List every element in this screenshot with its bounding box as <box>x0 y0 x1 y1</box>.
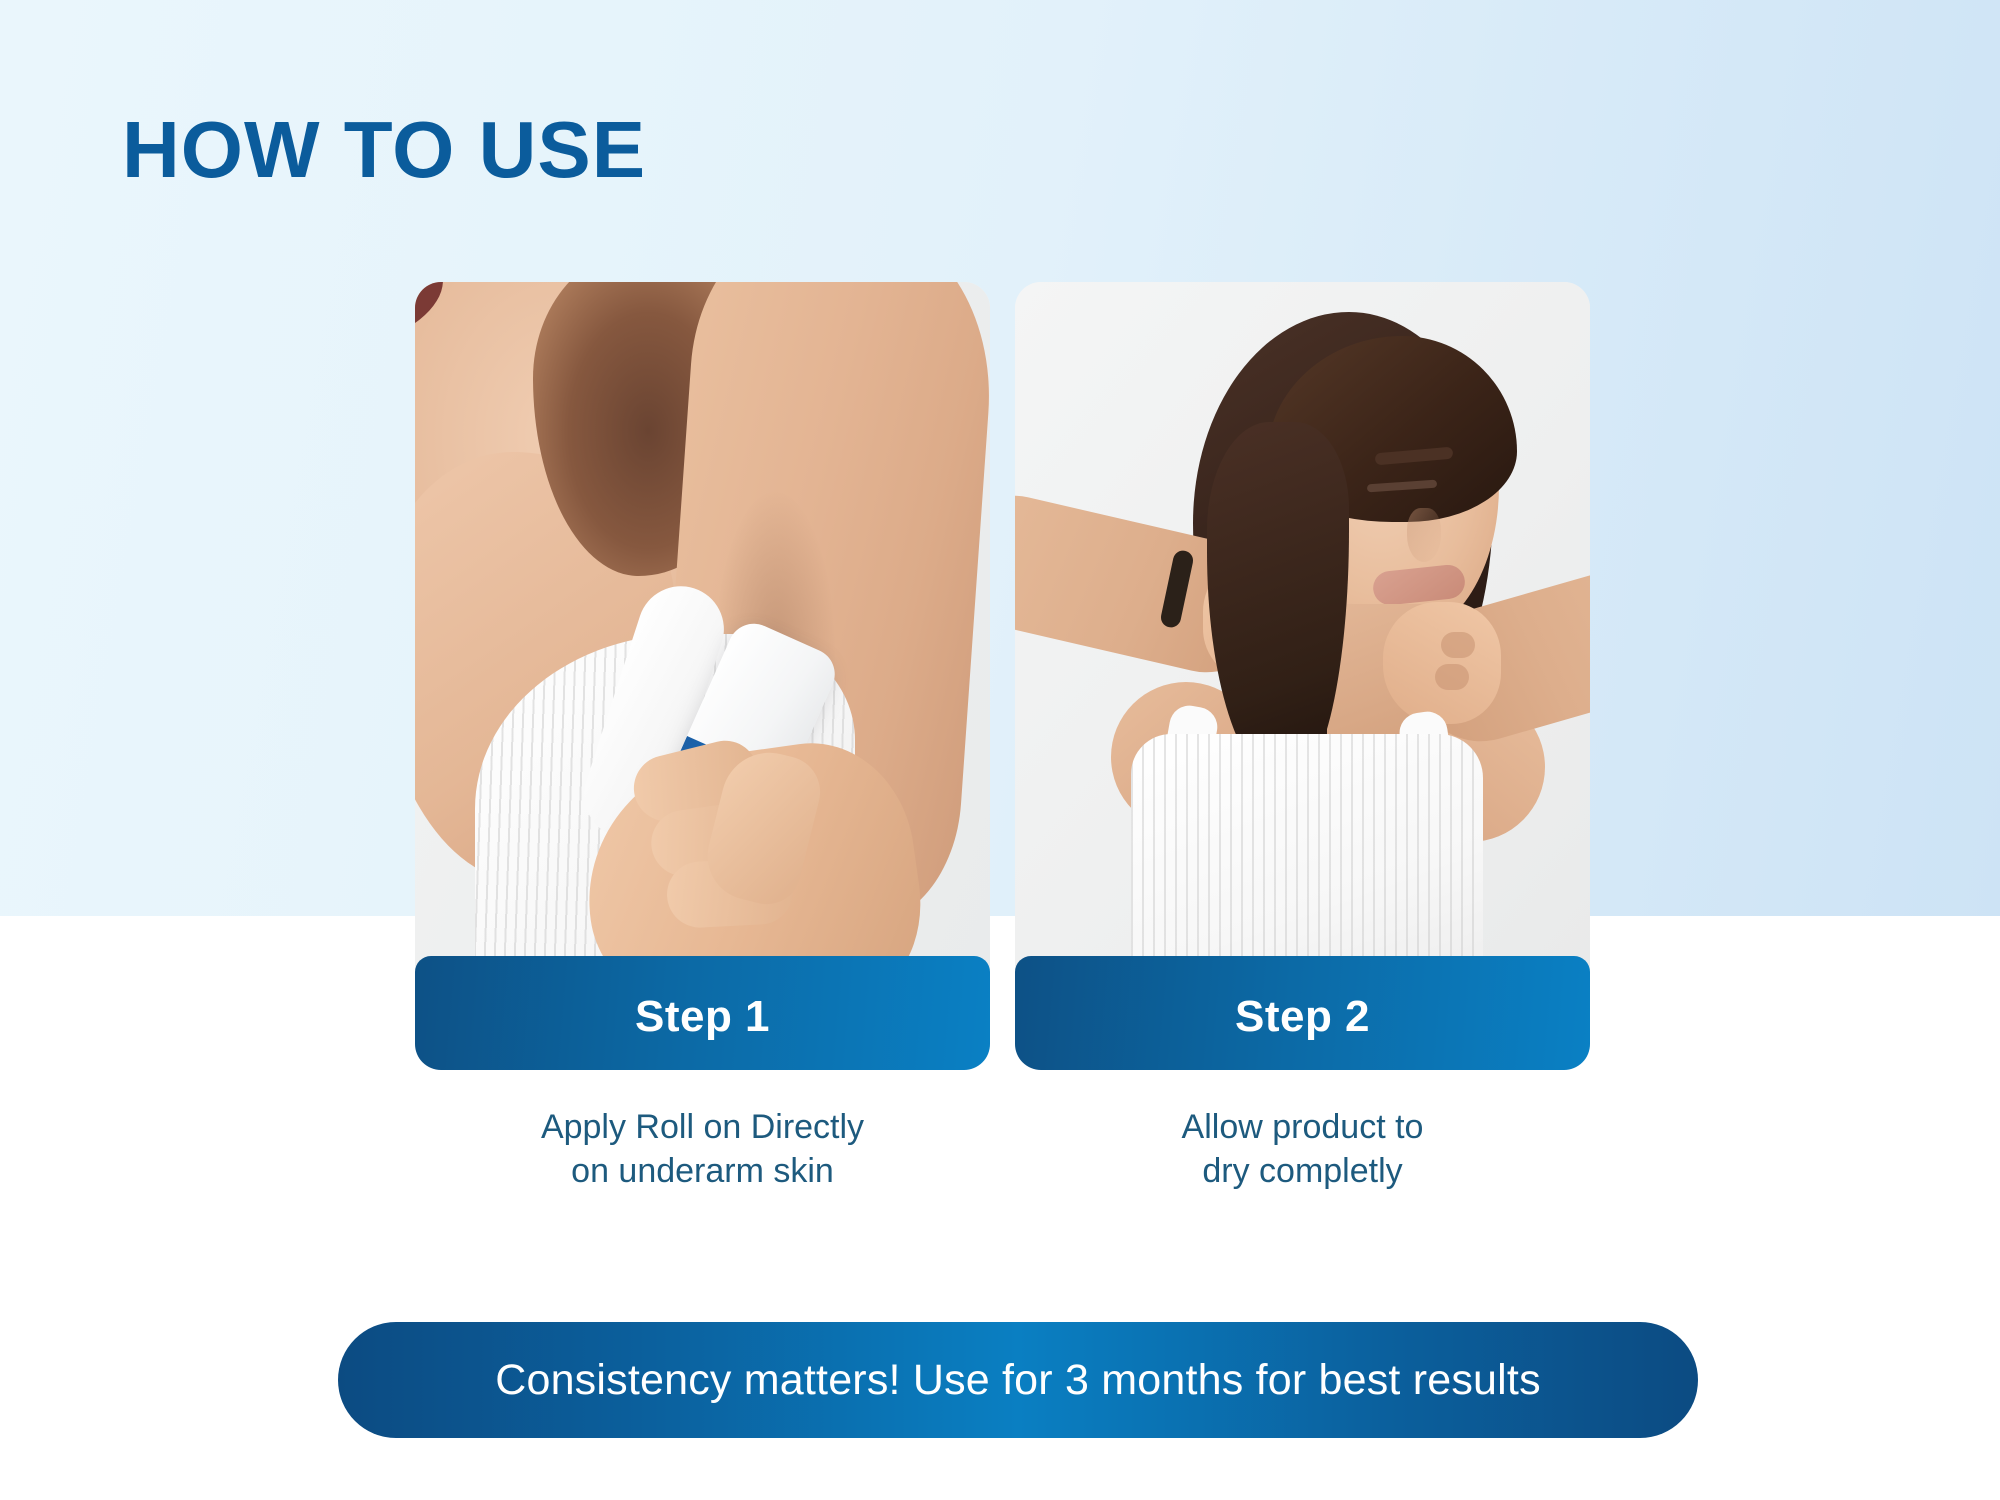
step-2-label: Step 2 <box>1235 992 1370 1042</box>
step-2-banner: Step 2 <box>1015 956 1590 1070</box>
step-card-2[interactable]: Step 2 Allow product to dry completly <box>1015 282 1590 1082</box>
step-2-caption-line-2: dry completly <box>1015 1150 1590 1194</box>
step-2-caption: Allow product to dry completly <box>1015 1106 1590 1193</box>
step-1-caption-line-1: Apply Roll on Directly <box>415 1106 990 1150</box>
step-1-photo <box>415 282 990 972</box>
consistency-banner-text: Consistency matters! Use for 3 months fo… <box>495 1356 1541 1405</box>
step-1-caption-line-2: on underarm skin <box>415 1150 990 1194</box>
step-1-banner: Step 1 <box>415 956 990 1070</box>
knuckle <box>1435 664 1469 690</box>
model-nose <box>1407 508 1441 562</box>
step-2-photo <box>1015 282 1590 972</box>
page-title: HOW TO USE <box>122 110 646 190</box>
step-card-1[interactable]: Step 1 Apply Roll on Directly on underar… <box>415 282 990 1082</box>
consistency-banner: Consistency matters! Use for 3 months fo… <box>338 1322 1698 1438</box>
model-crop-top <box>1131 734 1483 972</box>
model-fist-right <box>1383 602 1501 724</box>
steps-container: Step 1 Apply Roll on Directly on underar… <box>415 282 1590 1082</box>
model-mouth <box>415 282 455 359</box>
step-1-label: Step 1 <box>635 992 770 1042</box>
model-teeth <box>415 282 426 305</box>
how-to-use-page: HOW TO USE <box>0 0 2000 1500</box>
step-1-caption: Apply Roll on Directly on underarm skin <box>415 1106 990 1193</box>
knuckle <box>1441 632 1475 658</box>
step-2-caption-line-1: Allow product to <box>1015 1106 1590 1150</box>
